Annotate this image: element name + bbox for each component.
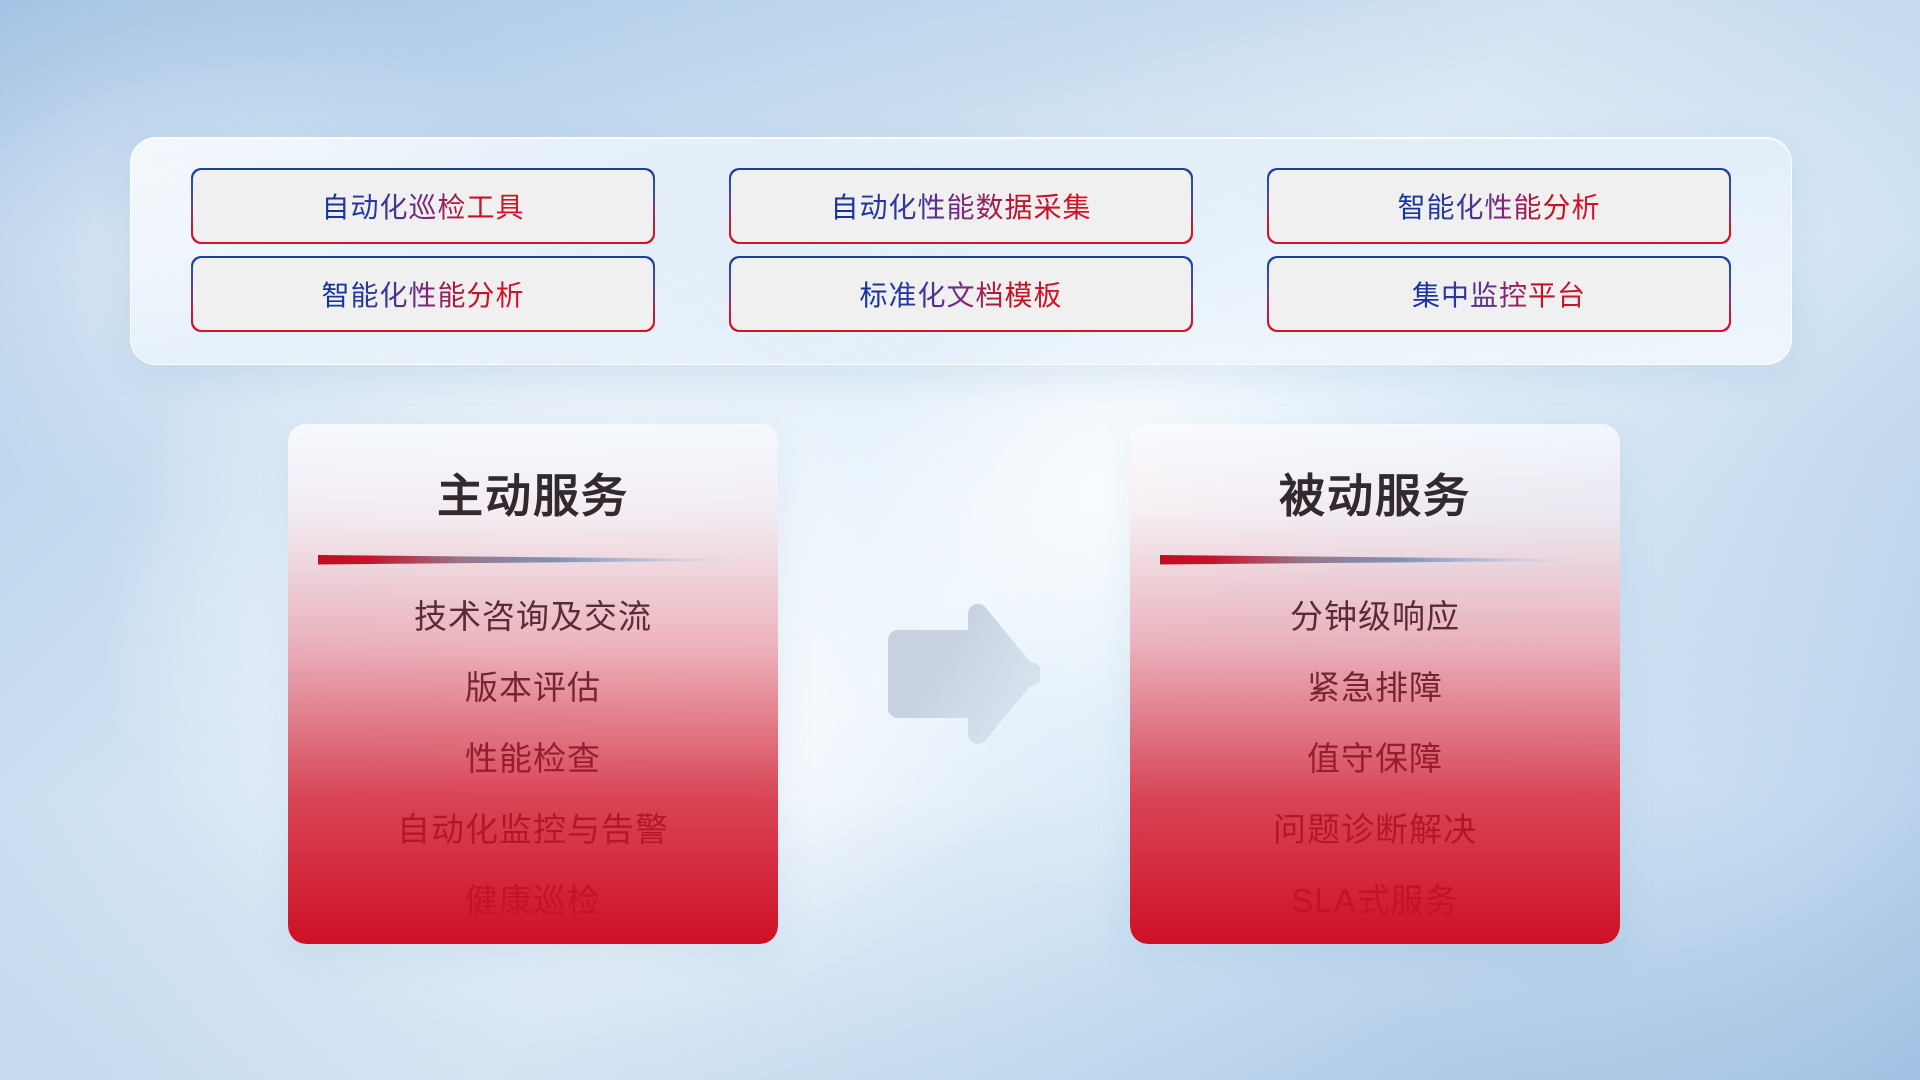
capability-tag-label: 自动化性能数据采集 <box>830 186 1091 226</box>
card-item-list: 分钟级响应 紧急排障 值守保障 问题诊断解决 SLA式服务 <box>1130 600 1620 917</box>
capability-tag-3[interactable]: 智能化性能分析 <box>193 258 653 330</box>
card-list-item: SLA式服务 <box>1291 884 1458 917</box>
capability-tag-grid: 自动化巡检工具 自动化性能数据采集 智能化性能分析 智能化性能分析 标准化文档模… <box>131 138 1791 364</box>
card-list-item: 版本评估 <box>465 671 601 704</box>
arrow-right-icon <box>880 600 1040 748</box>
capability-tag-label: 智能化性能分析 <box>321 274 524 314</box>
card-divider <box>318 554 748 566</box>
card-list-item: 技术咨询及交流 <box>414 600 652 633</box>
card-list-item: 问题诊断解决 <box>1273 813 1477 846</box>
card-title: 主动服务 <box>288 460 778 526</box>
capability-tag-label: 自动化巡检工具 <box>321 186 524 226</box>
card-item-list: 技术咨询及交流 版本评估 性能检查 自动化监控与告警 健康巡检 <box>288 600 778 917</box>
capability-tag-0[interactable]: 自动化巡检工具 <box>193 170 653 242</box>
capability-tag-5[interactable]: 集中监控平台 <box>1269 258 1729 330</box>
card-list-item: 分钟级响应 <box>1290 600 1460 633</box>
card-list-item: 健康巡检 <box>465 884 601 917</box>
card-list-item: 性能检查 <box>465 742 601 775</box>
capability-tag-label: 集中监控平台 <box>1412 274 1586 314</box>
capability-tag-label: 标准化文档模板 <box>859 274 1062 314</box>
card-list-item: 自动化监控与告警 <box>397 813 669 846</box>
capability-tag-2[interactable]: 智能化性能分析 <box>1269 170 1729 242</box>
card-list-item: 值守保障 <box>1307 742 1443 775</box>
capability-tag-4[interactable]: 标准化文档模板 <box>731 258 1191 330</box>
service-card-active: 主动服务 技术咨询及交流 版本评估 性能检查 自动化监控与告警 健康巡检 <box>288 424 778 944</box>
card-divider <box>1160 554 1590 566</box>
card-title: 被动服务 <box>1130 460 1620 526</box>
capability-panel: 自动化巡检工具 自动化性能数据采集 智能化性能分析 智能化性能分析 标准化文档模… <box>130 137 1792 365</box>
capability-tag-label: 智能化性能分析 <box>1397 186 1600 226</box>
card-list-item: 紧急排障 <box>1307 671 1443 704</box>
capability-tag-1[interactable]: 自动化性能数据采集 <box>731 170 1191 242</box>
service-card-passive: 被动服务 分钟级响应 紧急排障 值守保障 问题诊断解决 SLA式服务 <box>1130 424 1620 944</box>
